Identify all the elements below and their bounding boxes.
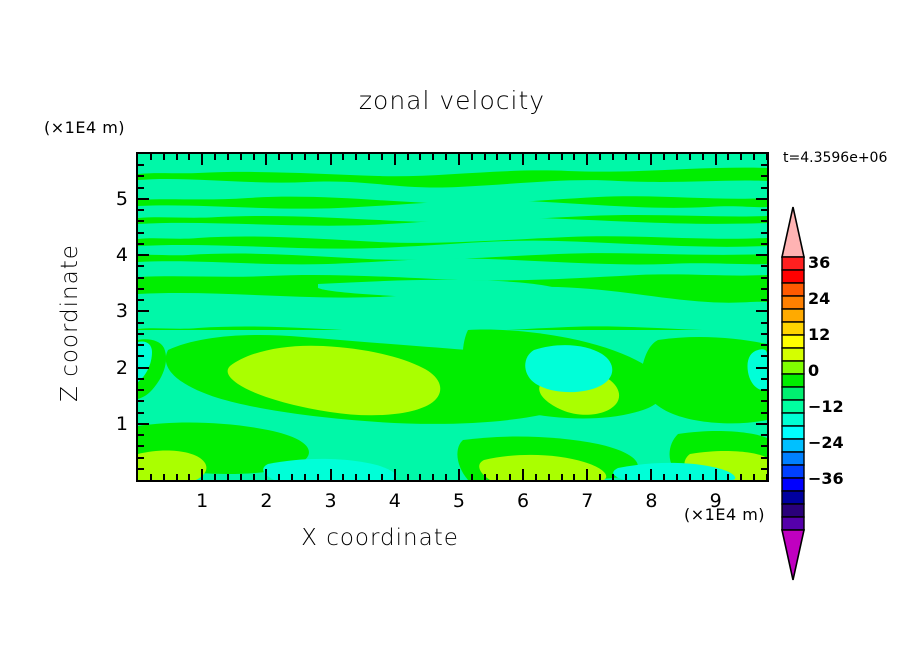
colorbar-swatch	[782, 296, 804, 309]
contour-field	[138, 154, 767, 480]
x-axis-minor-tick	[214, 474, 216, 480]
y-axis-minor-tick	[138, 209, 144, 211]
colorbar-swatch	[782, 413, 804, 426]
y-axis-minor-tick	[138, 322, 144, 324]
y-axis-minor-tick	[138, 378, 144, 380]
x-axis-major-tick	[650, 469, 652, 480]
y-axis-minor-tick	[761, 232, 767, 234]
x-axis-tick-label: 7	[572, 490, 602, 512]
colorbar-tick-label: 24	[808, 289, 830, 308]
x-axis-major-tick	[265, 154, 267, 165]
x-axis-minor-tick	[291, 474, 293, 480]
x-axis-minor-tick	[317, 474, 319, 480]
x-axis-minor-tick	[638, 154, 640, 160]
x-axis-minor-tick	[625, 154, 627, 160]
x-axis-minor-tick	[188, 154, 190, 160]
colorbar-tick-label: −36	[808, 469, 844, 488]
x-axis-minor-tick	[599, 154, 601, 160]
colorbar-swatch	[782, 322, 804, 335]
colorbar-swatch	[782, 257, 804, 270]
x-axis-tick-label: 5	[444, 490, 474, 512]
y-axis-minor-tick	[138, 220, 144, 222]
y-axis-minor-tick	[761, 209, 767, 211]
x-axis-minor-tick	[163, 154, 165, 160]
y-axis-minor-tick	[138, 175, 144, 177]
y-axis-minor-tick	[761, 355, 767, 357]
y-axis-minor-tick	[138, 457, 144, 459]
colorbar-swatch	[782, 374, 804, 387]
colorbar	[780, 205, 806, 586]
colorbar-swatch	[782, 348, 804, 361]
colorbar-tick-label: 36	[808, 253, 830, 272]
contour-plot-area	[136, 152, 769, 482]
x-axis-tick-label: 3	[316, 490, 346, 512]
y-axis-minor-tick	[761, 389, 767, 391]
colorbar-swatch	[782, 361, 804, 374]
y-axis-major-tick	[138, 310, 149, 312]
y-axis-minor-tick	[138, 277, 144, 279]
y-axis-minor-tick	[761, 333, 767, 335]
y-axis-major-tick	[138, 254, 149, 256]
x-axis-minor-tick	[240, 474, 242, 480]
x-axis-major-tick	[458, 469, 460, 480]
y-axis-major-tick	[138, 367, 149, 369]
colorbar-swatch	[782, 478, 804, 491]
x-axis-major-tick	[522, 154, 524, 165]
x-axis-minor-tick	[342, 154, 344, 160]
y-axis-minor-tick	[761, 220, 767, 222]
y-axis-minor-tick	[138, 288, 144, 290]
colorbar-swatch	[782, 270, 804, 283]
x-axis-tick-label: 1	[187, 490, 217, 512]
x-axis-minor-tick	[612, 154, 614, 160]
x-axis-minor-tick	[304, 474, 306, 480]
x-axis-minor-tick	[625, 474, 627, 480]
y-axis-major-tick	[138, 423, 149, 425]
x-axis-minor-tick	[240, 154, 242, 160]
y-axis-minor-tick	[761, 175, 767, 177]
x-axis-minor-tick	[278, 474, 280, 480]
x-axis-minor-tick	[753, 154, 755, 160]
x-axis-minor-tick	[689, 154, 691, 160]
x-axis-minor-tick	[445, 474, 447, 480]
x-axis-minor-tick	[368, 474, 370, 480]
y-axis-minor-tick	[761, 468, 767, 470]
x-axis-minor-tick	[535, 474, 537, 480]
x-axis-minor-tick	[509, 474, 511, 480]
x-axis-minor-tick	[407, 474, 409, 480]
x-axis-minor-tick	[471, 474, 473, 480]
x-axis-minor-tick	[407, 154, 409, 160]
x-axis-minor-tick	[432, 474, 434, 480]
x-axis-minor-tick	[766, 474, 768, 480]
x-axis-minor-tick	[548, 474, 550, 480]
x-axis-major-tick	[458, 154, 460, 165]
y-axis-minor-tick	[761, 187, 767, 189]
x-axis-minor-tick	[150, 474, 152, 480]
x-axis-major-tick	[522, 469, 524, 480]
colorbar-swatch	[782, 452, 804, 465]
x-axis-minor-tick	[419, 154, 421, 160]
x-axis-minor-tick	[445, 154, 447, 160]
y-axis-minor-tick	[138, 389, 144, 391]
x-axis-minor-tick	[484, 474, 486, 480]
x-axis-minor-tick	[676, 154, 678, 160]
x-axis-minor-tick	[150, 154, 152, 160]
y-axis-minor-tick	[138, 164, 144, 166]
y-axis-tick-label: 3	[98, 300, 128, 322]
timestamp-annotation: t=4.3596e+06	[783, 150, 887, 166]
x-axis-minor-tick	[740, 474, 742, 480]
x-axis-major-tick	[330, 154, 332, 165]
y-axis-minor-tick	[138, 468, 144, 470]
colorbar-tick-label: −12	[808, 397, 844, 416]
x-axis-minor-tick	[368, 154, 370, 160]
colorbar-swatch	[782, 309, 804, 322]
x-axis-minor-tick	[471, 154, 473, 160]
x-axis-minor-tick	[753, 474, 755, 480]
x-axis-minor-tick	[355, 154, 357, 160]
colorbar-tick-label: 12	[808, 325, 830, 344]
colorbar-svg	[780, 205, 806, 582]
x-axis-minor-tick	[278, 154, 280, 160]
x-axis-tick-label: 9	[701, 490, 731, 512]
x-axis-minor-tick	[561, 474, 563, 480]
y-axis-minor-tick	[761, 434, 767, 436]
x-axis-tick-label: 8	[636, 490, 666, 512]
x-axis-minor-tick	[176, 154, 178, 160]
x-axis-major-tick	[586, 154, 588, 165]
y-axis-title: Z coordinate	[57, 193, 83, 453]
y-axis-minor-tick	[138, 333, 144, 335]
x-axis-minor-tick	[599, 474, 601, 480]
x-axis-minor-tick	[509, 154, 511, 160]
x-axis-minor-tick	[573, 474, 575, 480]
page-title: zonal velocity	[0, 86, 904, 115]
y-axis-minor-tick	[138, 355, 144, 357]
y-axis-minor-tick	[761, 445, 767, 447]
x-axis-title: X coordinate	[0, 525, 760, 551]
x-axis-minor-tick	[561, 154, 563, 160]
x-axis-minor-tick	[740, 154, 742, 160]
y-axis-minor-tick	[138, 445, 144, 447]
x-axis-minor-tick	[419, 474, 421, 480]
y-axis-minor-tick	[761, 400, 767, 402]
x-axis-major-tick	[201, 469, 203, 480]
x-axis-minor-tick	[253, 474, 255, 480]
x-axis-major-tick	[715, 469, 717, 480]
x-axis-minor-tick	[663, 474, 665, 480]
y-axis-minor-tick	[761, 378, 767, 380]
x-axis-minor-tick	[573, 154, 575, 160]
y-axis-minor-tick	[761, 265, 767, 267]
x-axis-minor-tick	[496, 474, 498, 480]
y-axis-minor-tick	[138, 412, 144, 414]
y-axis-tick-label: 2	[98, 357, 128, 379]
colorbar-swatch	[782, 283, 804, 296]
x-axis-minor-tick	[214, 154, 216, 160]
y-axis-tick-label: 1	[98, 413, 128, 435]
x-axis-major-tick	[330, 469, 332, 480]
y-axis-minor-tick	[138, 344, 144, 346]
y-axis-major-tick	[756, 423, 767, 425]
colorbar-swatch	[782, 335, 804, 348]
colorbar-swatch	[782, 504, 804, 517]
y-axis-minor-tick	[761, 344, 767, 346]
x-axis-major-tick	[394, 469, 396, 480]
y-axis-minor-tick	[138, 434, 144, 436]
x-axis-major-tick	[715, 154, 717, 165]
x-axis-major-tick	[394, 154, 396, 165]
x-axis-minor-tick	[484, 154, 486, 160]
colorbar-swatch	[782, 465, 804, 478]
y-axis-major-tick	[756, 198, 767, 200]
colorbar-over-arrow	[782, 207, 804, 257]
y-axis-minor-tick	[138, 400, 144, 402]
contour-figure: zonal velocity (×1E4 m) t=4.3596e+06 Z c…	[0, 0, 904, 654]
y-axis-minor-tick	[761, 288, 767, 290]
y-axis-tick-label: 4	[98, 244, 128, 266]
y-axis-minor-tick	[138, 187, 144, 189]
y-axis-minor-tick	[761, 164, 767, 166]
x-axis-minor-tick	[342, 474, 344, 480]
x-axis-major-tick	[265, 469, 267, 480]
x-axis-minor-tick	[304, 154, 306, 160]
y-axis-tick-label: 5	[98, 188, 128, 210]
x-axis-minor-tick	[766, 154, 768, 160]
y-axis-minor-tick	[761, 412, 767, 414]
x-axis-tick-label: 2	[251, 490, 281, 512]
x-axis-minor-tick	[432, 154, 434, 160]
x-axis-minor-tick	[291, 154, 293, 160]
colorbar-tick-label: 0	[808, 361, 819, 380]
x-axis-minor-tick	[188, 474, 190, 480]
y-axis-minor-tick	[761, 243, 767, 245]
x-axis-minor-tick	[176, 474, 178, 480]
x-axis-minor-tick	[663, 154, 665, 160]
x-axis-minor-tick	[676, 474, 678, 480]
x-axis-minor-tick	[702, 154, 704, 160]
x-axis-major-tick	[650, 154, 652, 165]
x-axis-minor-tick	[253, 154, 255, 160]
x-axis-tick-label: 4	[380, 490, 410, 512]
colorbar-swatch	[782, 491, 804, 504]
y-axis-minor-tick	[761, 277, 767, 279]
y-axis-minor-tick	[761, 299, 767, 301]
y-axis-minor-tick	[138, 265, 144, 267]
x-axis-minor-tick	[227, 474, 229, 480]
x-axis-minor-tick	[535, 154, 537, 160]
x-axis-minor-tick	[548, 154, 550, 160]
y-axis-major-tick	[756, 310, 767, 312]
y-axis-minor-tick	[761, 457, 767, 459]
x-axis-minor-tick	[638, 474, 640, 480]
x-axis-major-tick	[201, 154, 203, 165]
y-axis-minor-tick	[138, 232, 144, 234]
x-axis-minor-tick	[612, 474, 614, 480]
y-axis-minor-tick	[761, 322, 767, 324]
colorbar-swatch	[782, 400, 804, 413]
y-axis-unit-label: (×1E4 m)	[44, 118, 125, 137]
x-axis-minor-tick	[727, 474, 729, 480]
x-axis-minor-tick	[355, 474, 357, 480]
colorbar-swatch	[782, 426, 804, 439]
x-axis-minor-tick	[689, 474, 691, 480]
x-axis-minor-tick	[381, 154, 383, 160]
colorbar-under-arrow	[782, 530, 804, 580]
x-axis-minor-tick	[163, 474, 165, 480]
x-axis-minor-tick	[702, 474, 704, 480]
colorbar-tick-label: −24	[808, 433, 844, 452]
x-axis-minor-tick	[496, 154, 498, 160]
x-axis-minor-tick	[317, 154, 319, 160]
colorbar-swatch	[782, 517, 804, 530]
y-axis-major-tick	[138, 198, 149, 200]
x-axis-major-tick	[586, 469, 588, 480]
colorbar-swatch	[782, 387, 804, 400]
x-axis-minor-tick	[227, 154, 229, 160]
x-axis-minor-tick	[727, 154, 729, 160]
y-axis-major-tick	[756, 254, 767, 256]
y-axis-minor-tick	[138, 243, 144, 245]
colorbar-swatch	[782, 439, 804, 452]
x-axis-minor-tick	[381, 474, 383, 480]
x-axis-tick-label: 6	[508, 490, 538, 512]
y-axis-minor-tick	[138, 299, 144, 301]
y-axis-major-tick	[756, 367, 767, 369]
